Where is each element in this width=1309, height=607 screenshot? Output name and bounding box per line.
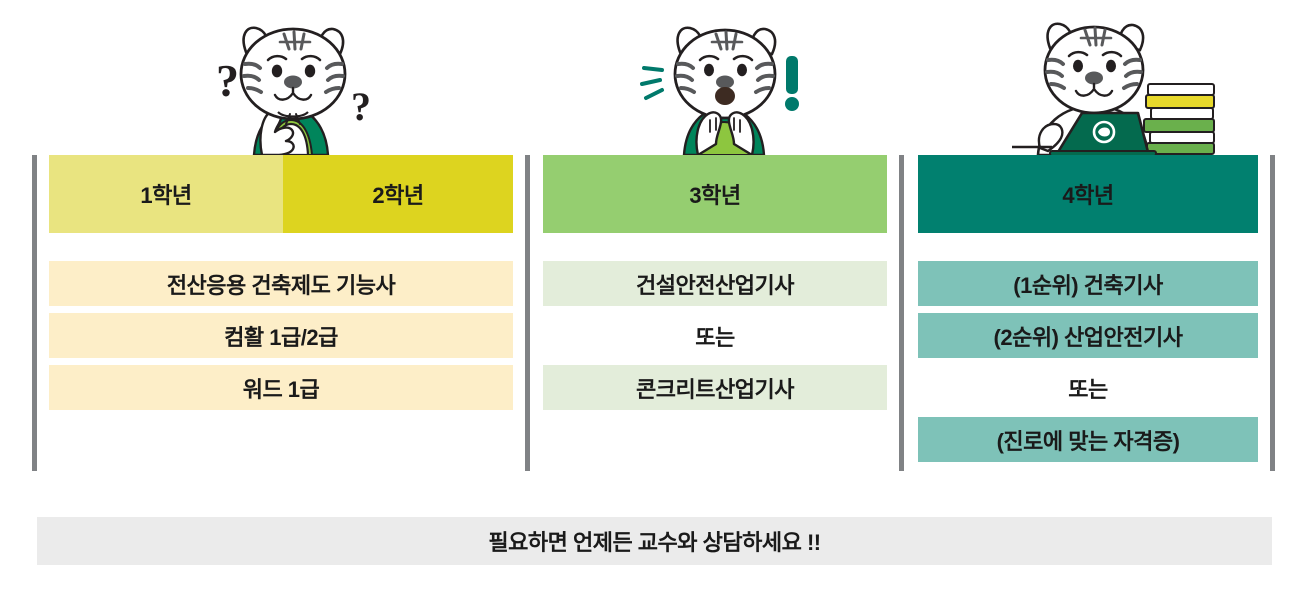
column-header-row: 3학년 [543,155,887,233]
list-item[interactable]: 건설안전산업기사 [543,261,887,306]
column-year-4: 4학년 (1순위) 건축기사 (2순위) 산업안전기사 또는 (진로에 맞는 자… [918,155,1258,469]
header-year-4[interactable]: 4학년 [918,155,1258,233]
header-year-1[interactable]: 1학년 [49,155,283,233]
advice-banner: 필요하면 언제든 교수와 상담하세요 !! [37,517,1272,565]
column-year-3: 3학년 건설안전산업기사 또는 콘크리트산업기사 [543,155,887,417]
column-header-row: 1학년 2학년 [49,155,513,233]
certificate-list-year-3: 건설안전산업기사 또는 콘크리트산업기사 [543,261,887,417]
list-item[interactable]: 콘크리트산업기사 [543,365,887,410]
column-header-row: 4학년 [918,155,1258,233]
list-item[interactable]: (1순위) 건축기사 [918,261,1258,306]
divider-col2-col3 [899,155,904,471]
list-item-separator: 또는 [543,313,887,358]
certificate-list-year-1-2: 전산응용 건축제도 기능사 컴활 1급/2급 워드 1급 [49,261,513,417]
list-item[interactable]: (진로에 맞는 자격증) [918,417,1258,462]
divider-right [1270,155,1275,471]
column-year-1-2: 1학년 2학년 전산응용 건축제도 기능사 컴활 1급/2급 워드 1급 [49,155,513,417]
list-item[interactable]: 워드 1급 [49,365,513,410]
header-year-3[interactable]: 3학년 [543,155,887,233]
certificate-list-year-4: (1순위) 건축기사 (2순위) 산업안전기사 또는 (진로에 맞는 자격증) [918,261,1258,469]
list-item[interactable]: 컴활 1급/2급 [49,313,513,358]
divider-col1-col2 [525,155,530,471]
list-item[interactable]: (2순위) 산업안전기사 [918,313,1258,358]
curriculum-board: 1학년 2학년 전산응용 건축제도 기능사 컴활 1급/2급 워드 1급 3학년… [0,0,1309,607]
header-year-2[interactable]: 2학년 [283,155,513,233]
divider-left [32,155,37,471]
list-item-separator: 또는 [918,365,1258,410]
list-item[interactable]: 전산응용 건축제도 기능사 [49,261,513,306]
